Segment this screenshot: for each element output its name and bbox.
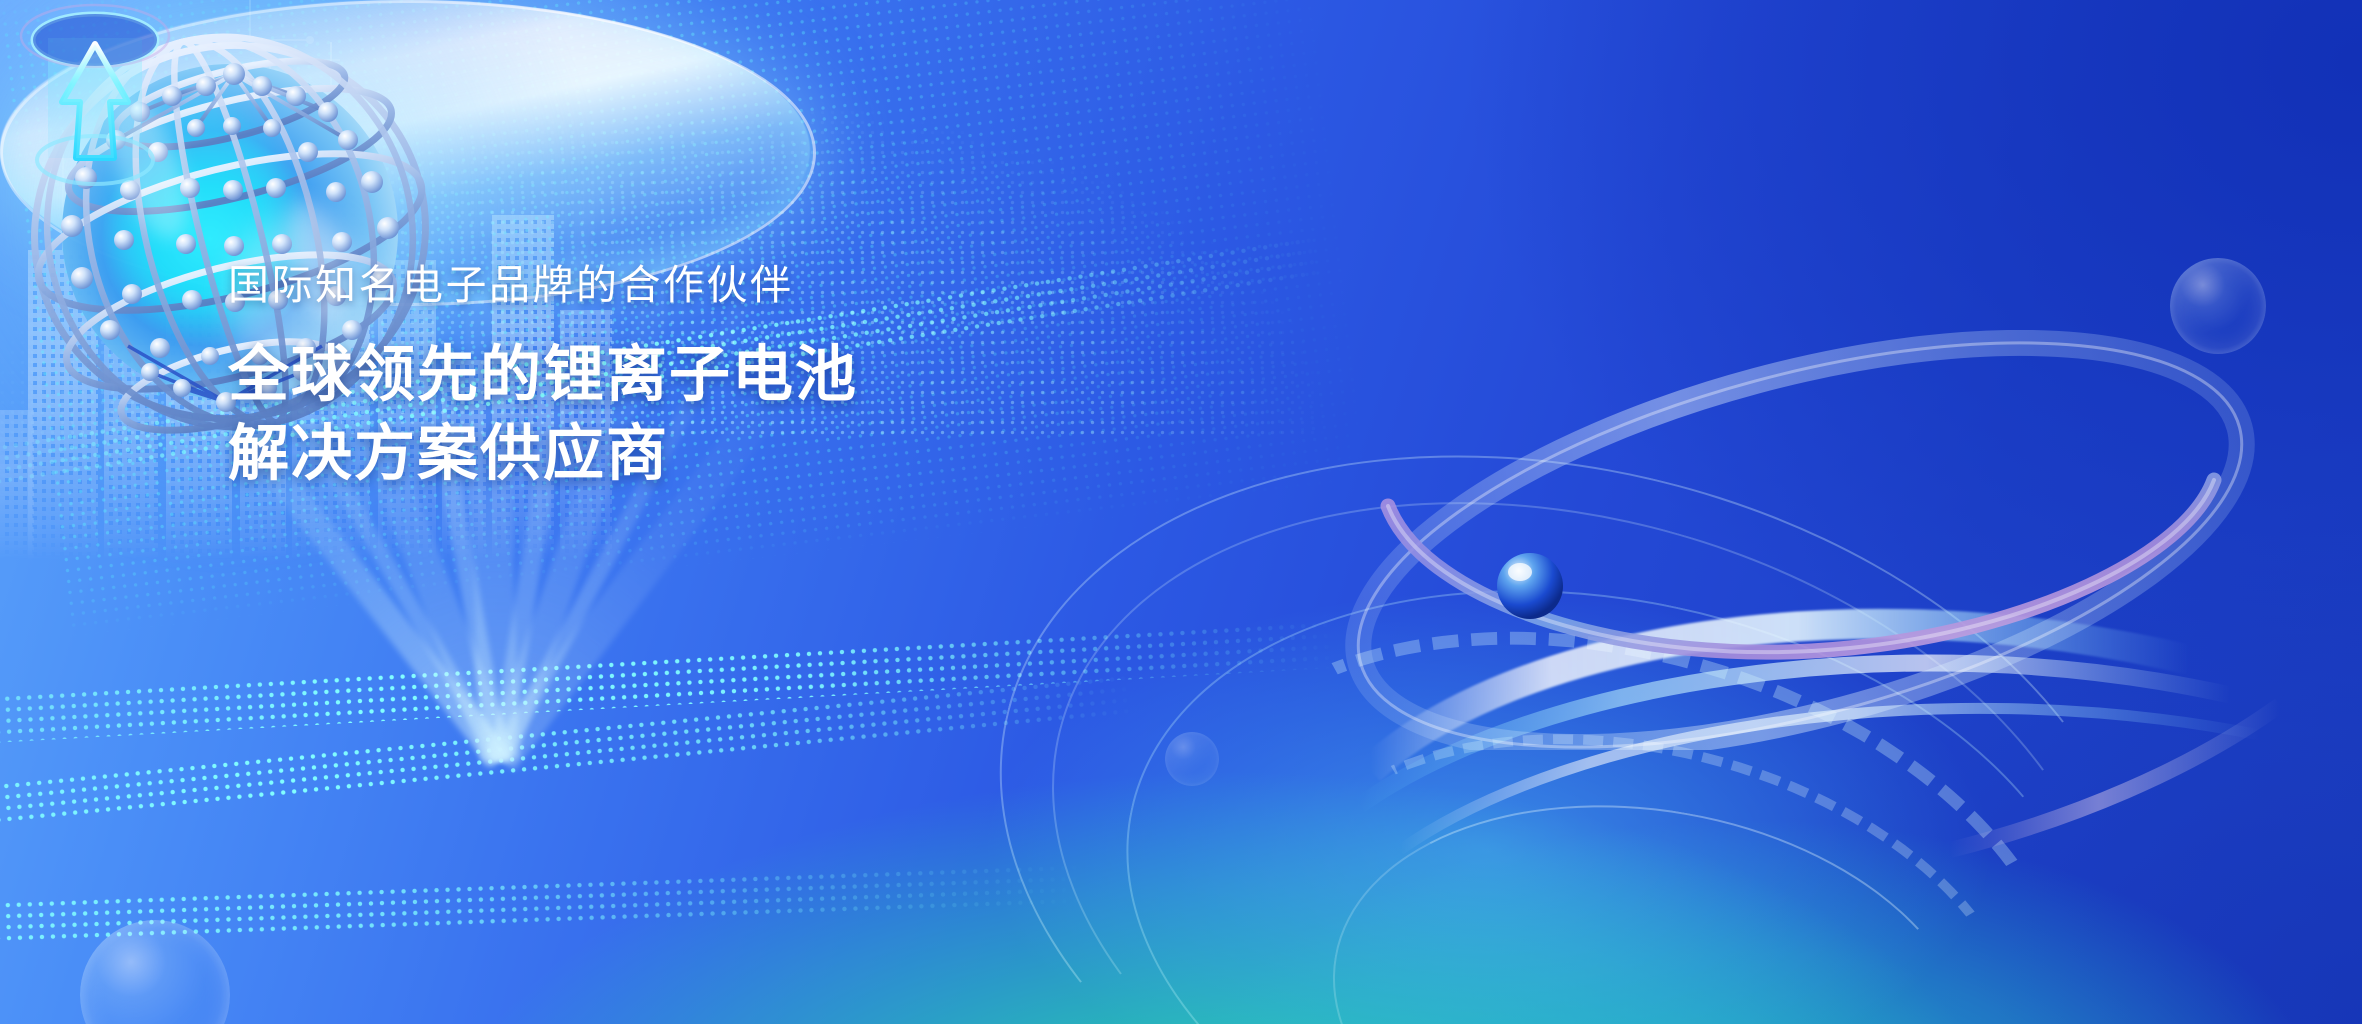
bubble-icon [2170, 258, 2266, 354]
hero-copy: 国际知名电子品牌的合作伙伴 全球领先的锂离子电池 解决方案供应商 [228, 258, 1128, 494]
light-beam-icon [0, 0, 190, 195]
orbit-node-sphere-icon [1497, 553, 1563, 619]
hero-banner: 国际知名电子品牌的合作伙伴 全球领先的锂离子电池 解决方案供应商 [0, 0, 2362, 1024]
banner-subtitle: 国际知名电子品牌的合作伙伴 [228, 258, 1128, 313]
orbit-ring-icon [1330, 340, 2290, 740]
page-title-line-1: 全球领先的锂离子电池 [228, 335, 1128, 414]
bubble-icon [1165, 732, 1219, 786]
page-title-line-2: 解决方案供应商 [228, 414, 1128, 493]
